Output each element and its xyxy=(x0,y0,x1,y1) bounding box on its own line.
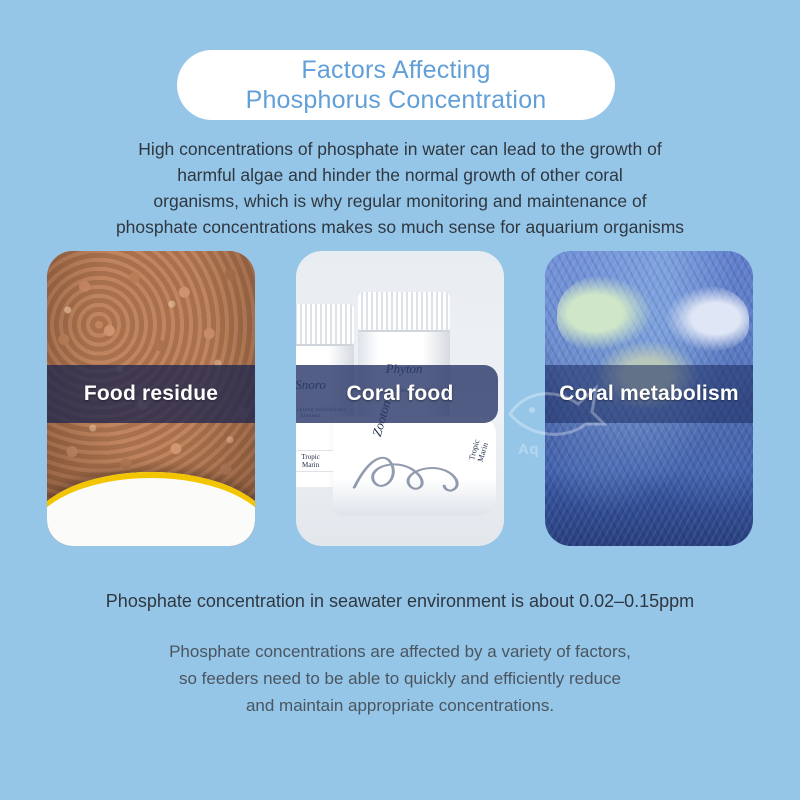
footer-note-line-1: Phosphate concentrations are affected by… xyxy=(100,638,700,665)
footer-note-line-3: and maintain appropriate concentrations. xyxy=(100,692,700,719)
handwriting-scribble-icon xyxy=(346,446,482,500)
supplement-bottle-lying: Zooton Tropic Marin xyxy=(333,416,495,516)
intro-line-4: phosphate concentrations makes so much s… xyxy=(60,214,740,240)
card-label-text: Coral metabolism xyxy=(559,382,738,406)
bottle-left-brand: Tropic Marin xyxy=(296,450,335,472)
page-title-pill: Factors Affecting Phosphorus Concentrati… xyxy=(177,50,615,120)
footer-note-line-2: so feeders need to be able to quickly an… xyxy=(100,665,700,692)
card-label-band: Coral food xyxy=(296,365,504,423)
factor-card-coral-food[interactable]: Snoro In Entwicklung befindliches Elemen… xyxy=(296,251,504,546)
footer-highlight-text: Phosphate concentration in seawater envi… xyxy=(60,588,740,614)
factor-card-food-residue[interactable]: Food residue xyxy=(47,251,255,546)
card-label-band: Coral metabolism xyxy=(545,365,753,423)
footer-note: Phosphate concentrations are affected by… xyxy=(100,638,700,719)
bottle-left-brand-line-2: Marin xyxy=(296,461,334,469)
infographic-page: { "title": { "line1": "Factors Affecting… xyxy=(0,0,800,800)
page-title-line-2: Phosphorus Concentration xyxy=(246,85,547,115)
factor-card-row: Food residue Snoro In Entwicklung befind… xyxy=(0,251,800,546)
intro-line-2: harmful algae and hinder the normal grow… xyxy=(60,162,740,188)
page-title-line-1: Factors Affecting xyxy=(301,55,490,85)
card-label-text: Coral food xyxy=(347,382,454,406)
intro-paragraph: High concentrations of phosphate in wate… xyxy=(60,136,740,240)
card-label-text: Food residue xyxy=(84,382,218,406)
intro-line-1: High concentrations of phosphate in wate… xyxy=(60,136,740,162)
card-label-band: Food residue xyxy=(47,365,255,423)
factor-card-coral-metabolism[interactable]: Coral metabolism xyxy=(545,251,753,546)
intro-line-3: organisms, which is why regular monitori… xyxy=(60,188,740,214)
bottle-left-brand-line-1: Tropic xyxy=(296,453,334,461)
